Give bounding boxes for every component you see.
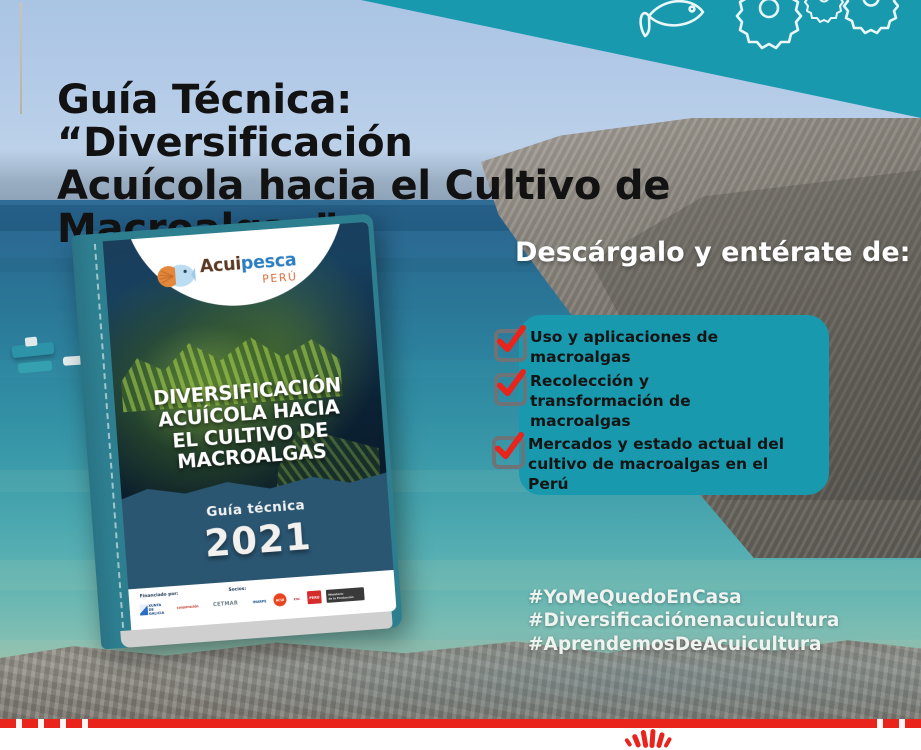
cooperacion-galega-logo: cooperación xyxy=(174,599,201,614)
acuipesca-wordmark: Acuipesca PERÚ xyxy=(199,252,298,289)
peru-logo: PERÚ xyxy=(307,590,322,604)
check-tick xyxy=(495,325,526,356)
hashtag: #YoMeQuedoEnCasa xyxy=(528,586,839,609)
xunta-de-galicia-logo: XUNTADE GALICIA xyxy=(139,601,170,616)
checklist-item-label: Uso y aplicaciones de macroalgas xyxy=(530,328,814,368)
check-tick xyxy=(495,369,526,400)
book-front-page: Acuipesca PERÚ DIVERSIFICACIÓN ACUÍCOLA … xyxy=(103,222,397,630)
partners-label: Socios: xyxy=(228,587,246,593)
checklist-item: Recolección y transformación de macroalg… xyxy=(494,372,784,431)
acui-round-logo: ACUI xyxy=(273,593,287,607)
checklist-panel: Uso y aplicaciones de macroalgas Recolec… xyxy=(519,315,829,495)
footer-red-bar xyxy=(0,719,921,728)
shell-and-fish-icon xyxy=(154,259,196,294)
xunta-flag-icon xyxy=(139,604,148,616)
checkmark-icon xyxy=(494,329,523,358)
poster-root: Guía Técnica: “Diversificación Acuícola … xyxy=(0,0,921,750)
headline-line-1: Guía Técnica: “Diversificación xyxy=(57,79,707,165)
logo-acui-text: Acui xyxy=(199,255,242,278)
page-title: Guía Técnica: “Diversificación Acuícola … xyxy=(57,79,707,252)
funded-by-label: Financiado por: xyxy=(140,592,179,600)
checklist-item: Uso y aplicaciones de macroalgas xyxy=(494,328,814,368)
download-subheading: Descárgalo y entérate de: xyxy=(515,237,910,268)
headline-line-2: Acuícola hacia el Cultivo de xyxy=(57,165,707,208)
background-pole xyxy=(20,2,22,114)
check-tick xyxy=(493,432,524,463)
checkmark-icon xyxy=(492,436,521,465)
footer-red-bar-dashes-right xyxy=(861,719,921,728)
imarpe-logo: IMARPE xyxy=(250,594,269,608)
hashtag-group: #YoMeQuedoEnCasa #Diversificaciónenacuic… xyxy=(528,586,839,656)
hashtag: #Diversificaciónenacuicultura xyxy=(528,609,839,632)
checkmark-icon xyxy=(494,373,523,402)
checklist-item-label: Recolección y transformación de macroalg… xyxy=(530,372,784,431)
checklist-item: Mercados y estado actual del cultivo de … xyxy=(492,435,814,494)
hashtag: #AprendemosDeAcuicultura xyxy=(528,633,839,656)
cetmar-logo: CETMAR xyxy=(205,596,246,612)
sun-rays-icon xyxy=(622,724,678,750)
book-cover-mockup: Acuipesca PERÚ DIVERSIFICACIÓN ACUÍCOLA … xyxy=(71,213,403,649)
escudo-logo: ESC xyxy=(291,592,303,606)
footer-red-bar-dashes-left xyxy=(0,719,90,728)
checklist-item-label: Mercados y estado actual del cultivo de … xyxy=(528,435,814,494)
footer-white-strip xyxy=(0,728,921,750)
boat-sail xyxy=(25,337,38,347)
ministerio-produccion-logo: Ministeriode la Producción xyxy=(326,587,365,603)
